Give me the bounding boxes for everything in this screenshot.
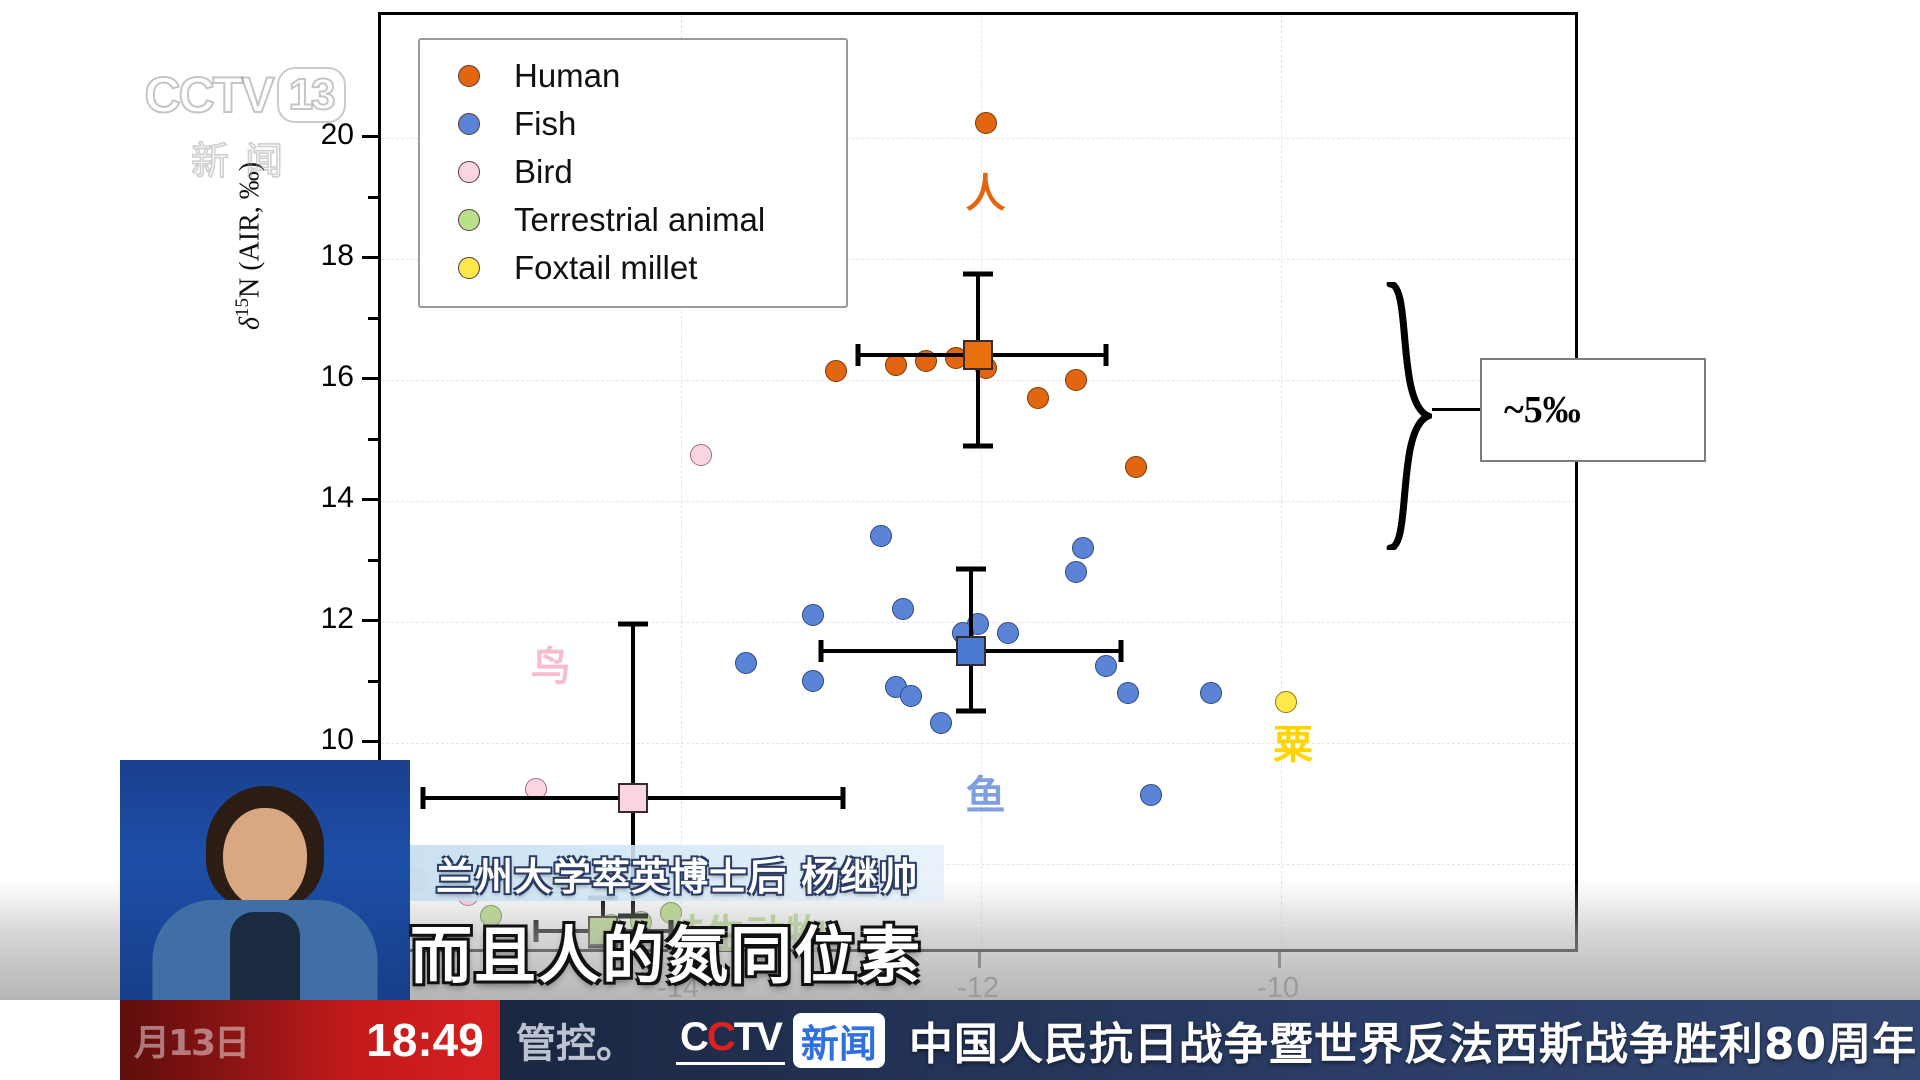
x-tick bbox=[1278, 952, 1281, 968]
anchor-face bbox=[223, 808, 307, 908]
cctv-logo-tv: TV bbox=[734, 1015, 781, 1059]
bottom-news-bar: 月13日 18:49 管控。 CCTV 新闻 中国人民抗日战争暨世界反法西斯战争… bbox=[0, 1000, 1920, 1080]
y-tick-label: 14 bbox=[321, 481, 354, 515]
y-tick-label: 18 bbox=[321, 239, 354, 273]
data-point-fish bbox=[802, 604, 824, 626]
y-tick bbox=[362, 498, 378, 501]
data-point-fish bbox=[892, 598, 914, 620]
y-tick bbox=[362, 377, 378, 380]
data-point-human bbox=[1125, 456, 1147, 478]
error-bar-cap bbox=[963, 443, 993, 448]
y-minor-tick bbox=[368, 438, 378, 441]
mean-marker-bird bbox=[618, 783, 648, 813]
bottom-bar-date: 月13日 bbox=[120, 1000, 350, 1080]
error-bar-cap bbox=[1118, 640, 1123, 662]
data-point-fish bbox=[997, 622, 1019, 644]
chart-annotation-anno-fish: 鱼 bbox=[966, 763, 1006, 821]
chart-annotation-anno-bird: 鸟 bbox=[531, 634, 571, 692]
bottom-bar-ticker: 管控。 CCTV 新闻 中国人民抗日战争暨世界反法西斯战争胜利80周年 bbox=[500, 1000, 1920, 1080]
y-tick bbox=[362, 135, 378, 138]
error-bar-cap bbox=[963, 272, 993, 277]
data-point-human bbox=[1027, 387, 1049, 409]
callout-connector bbox=[1432, 408, 1482, 411]
ticker-tail-subtitle: 管控。 bbox=[516, 1011, 636, 1069]
error-bar-cap bbox=[856, 344, 861, 366]
y-tick bbox=[362, 256, 378, 259]
callout-box: ~5‰ bbox=[1480, 358, 1706, 462]
error-bar-cap bbox=[618, 621, 648, 626]
data-point-fish bbox=[802, 670, 824, 692]
cctv-logo-c2: C bbox=[707, 1015, 734, 1059]
data-point-bird bbox=[690, 444, 712, 466]
brace-icon bbox=[1386, 282, 1432, 550]
data-point-fish bbox=[930, 712, 952, 734]
data-point-human bbox=[825, 360, 847, 382]
y-minor-tick bbox=[368, 196, 378, 199]
y-tick-label: 16 bbox=[321, 360, 354, 394]
mean-marker-human bbox=[963, 340, 993, 370]
y-axis-title-superscript: 15 bbox=[232, 298, 253, 317]
y-axis-title: δ15N (AIR, ‰) bbox=[232, 162, 266, 330]
error-bar-cap bbox=[956, 708, 986, 713]
cctv-news-label: 新闻 bbox=[793, 1013, 885, 1068]
data-point-human bbox=[975, 112, 997, 134]
y-tick bbox=[362, 740, 378, 743]
data-point-fish bbox=[1072, 537, 1094, 559]
error-bar-cap bbox=[421, 787, 426, 809]
ticker-headline: 中国人民抗日战争暨世界反法西斯战争胜利80周年 bbox=[909, 1008, 1917, 1072]
cctv-logo-c1: C bbox=[680, 1015, 707, 1059]
bottom-bar-clock: 18:49 bbox=[350, 1000, 500, 1080]
chart-annotation-anno-millet: 粟 bbox=[1273, 712, 1313, 770]
cctv-logo-text: CCTV bbox=[676, 1015, 785, 1065]
data-point-fish bbox=[1200, 682, 1222, 704]
data-point-fish bbox=[735, 652, 757, 674]
y-minor-tick bbox=[368, 680, 378, 683]
chart-annotation-anno-human: 人 bbox=[966, 161, 1006, 219]
callout-text: ~5‰ bbox=[1504, 388, 1581, 432]
y-minor-tick bbox=[368, 559, 378, 562]
data-point-fish bbox=[900, 685, 922, 707]
data-point-fish bbox=[1140, 784, 1162, 806]
data-point-fish bbox=[1065, 561, 1087, 583]
y-tick-label: 10 bbox=[321, 723, 354, 757]
bottom-bar-left-pad bbox=[0, 1000, 120, 1080]
subtitle-caption: 而且人的氮同位素 bbox=[410, 905, 922, 995]
data-point-fish bbox=[1117, 682, 1139, 704]
mean-marker-fish bbox=[956, 636, 986, 666]
data-point-fish bbox=[1095, 655, 1117, 677]
error-bar-cap bbox=[841, 787, 846, 809]
y-tick-label: 20 bbox=[321, 118, 354, 152]
y-axis-title-rest: N (AIR, ‰) bbox=[234, 162, 265, 298]
lower-third-name-text: 兰州大学萃英博士后 杨继帅 bbox=[436, 846, 918, 901]
y-minor-tick bbox=[368, 317, 378, 320]
y-axis-title-delta: δ bbox=[234, 317, 265, 330]
data-point-human bbox=[1065, 369, 1087, 391]
lower-third-name-banner: 兰州大学萃英博士后 杨继帅 bbox=[410, 845, 944, 901]
cctv-news-logo: CCTV 新闻 bbox=[676, 1013, 885, 1068]
y-tick-label: 12 bbox=[321, 602, 354, 636]
error-bar-cap bbox=[1103, 344, 1108, 366]
error-bar-cap bbox=[818, 640, 823, 662]
data-point-millet bbox=[1275, 691, 1297, 713]
y-tick bbox=[362, 619, 378, 622]
error-bar-cap bbox=[956, 567, 986, 572]
data-point-fish bbox=[870, 525, 892, 547]
x-tick bbox=[978, 952, 981, 968]
